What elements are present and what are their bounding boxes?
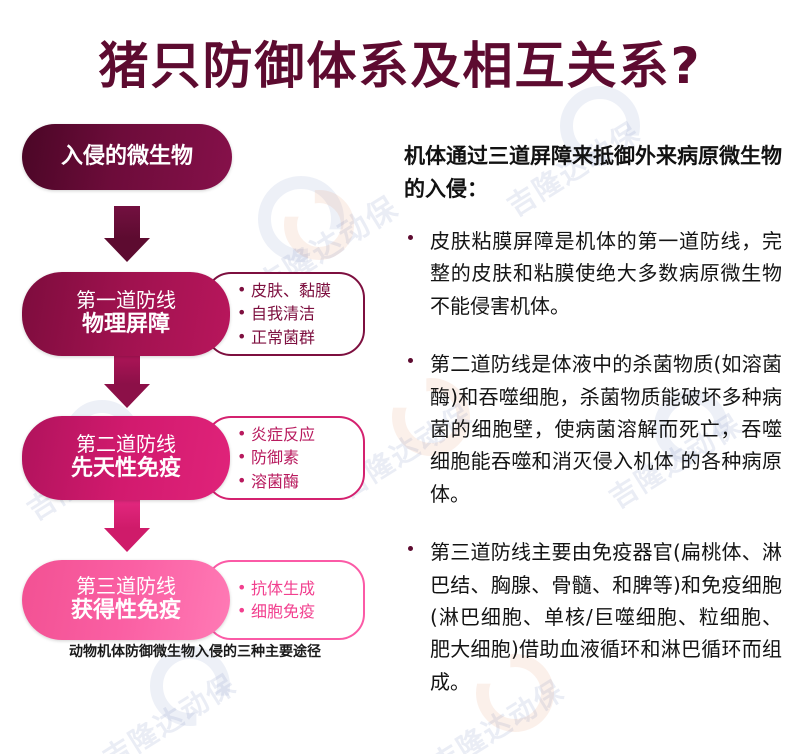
callout-item: 细胞免疫 [237,600,353,623]
flow-stage-first-defense: 第一道防线 物理屏障 [22,272,230,356]
flow-stage-label: 第一道防线 [76,289,176,312]
flow-stage-invading-microbes: 入侵的微生物 [22,124,232,190]
explanation-intro: 机体通过三道屏障来抵御外来病原微生物的入侵： [404,140,782,205]
explanation-column: 机体通过三道屏障来抵御外来病原微生物的入侵： 皮肤粘膜屏障是机体的第一道防线，完… [404,140,782,724]
flow-arrow-3-icon [104,496,150,552]
defense-flowchart: 入侵的微生物 皮肤、黏膜 自我清洁 正常菌群 第一道防线 物理屏障 炎症反应 防… [0,124,390,684]
callout-item: 皮肤、黏膜 [237,279,353,302]
paragraph-text: 第三道防线主要由免疫器官(扁桃体、淋巴结、胸腺、骨髓、和脾等)和免疫细胞(淋巴细… [430,540,782,694]
callout-item: 正常菌群 [237,326,353,349]
flow-stage-label: 入侵的微生物 [61,144,193,169]
callout-item: 炎症反应 [237,423,353,446]
flow-stage-sublabel: 先天性免疫 [71,456,181,482]
bullet-dot-icon [408,546,413,551]
explanation-paragraph: 第三道防线主要由免疫器官(扁桃体、淋巴结、胸腺、骨髓、和脾等)和免疫细胞(淋巴细… [404,536,782,698]
callout-item: 溶菌酶 [237,470,353,493]
callout-item: 防御素 [237,446,353,469]
flow-stage-label: 第三道防线 [76,575,176,598]
flow-arrow-2-icon [104,352,150,408]
explanation-paragraph: 皮肤粘膜屏障是机体的第一道防线，完整的皮肤和粘膜使绝大多数病原微生物不能侵害机体… [404,225,782,322]
bullet-dot-icon [408,358,413,363]
paragraph-text: 第二道防线是体液中的杀菌物质(如溶菌酶)和吞噬细胞，杀菌物质能破坏多种病菌的细胞… [430,352,782,506]
flow-arrow-1-icon [104,206,150,262]
flow-stage-second-defense: 第二道防线 先天性免疫 [22,416,230,500]
flow-stage-sublabel: 物理屏障 [82,312,170,338]
flowchart-caption: 动物机体防御微生物入侵的三种主要途径 [0,641,390,661]
flow-stage-sublabel: 获得性免疫 [71,598,181,624]
flow-stage-third-defense: 第三道防线 获得性免疫 [22,560,230,640]
callout-item: 抗体生成 [237,577,353,600]
callout-item: 自我清洁 [237,302,353,325]
bullet-dot-icon [408,235,413,240]
page-title: 猪只防御体系及相互关系? [0,26,800,98]
flow-stage-label: 第二道防线 [76,433,176,456]
explanation-paragraph: 第二道防线是体液中的杀菌物质(如溶菌酶)和吞噬细胞，杀菌物质能破坏多种病菌的细胞… [404,348,782,510]
paragraph-text: 皮肤粘膜屏障是机体的第一道防线，完整的皮肤和粘膜使绝大多数病原微生物不能侵害机体… [430,229,782,318]
